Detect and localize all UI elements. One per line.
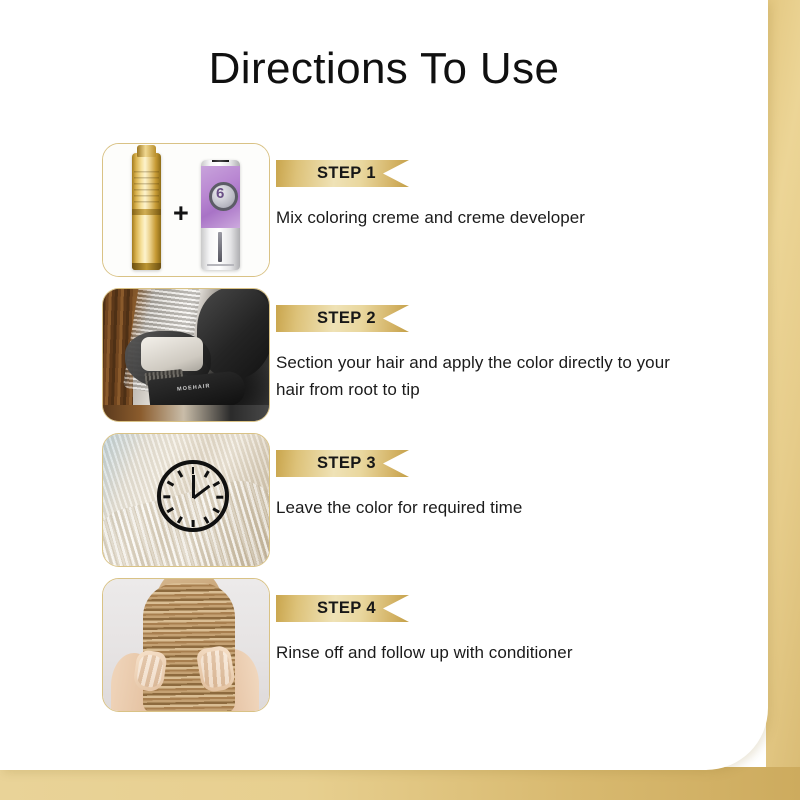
step-2-banner: STEP 2 bbox=[276, 305, 409, 332]
step-item-1: + 6 STEP 1 Mix coloring creme and creme … bbox=[102, 143, 722, 277]
clock-tick bbox=[177, 516, 183, 523]
step-3-banner: STEP 3 bbox=[276, 450, 409, 477]
step-3-thumbnail bbox=[102, 433, 270, 567]
step-3-description: Leave the color for required time bbox=[276, 494, 676, 521]
step-3-label: STEP 3 bbox=[317, 454, 376, 473]
clock-tick bbox=[192, 467, 195, 474]
step-4-description: Rinse off and follow up with conditioner bbox=[276, 639, 676, 666]
processing-time-image bbox=[103, 434, 269, 566]
infographic-page: Directions To Use + 6 bbox=[0, 0, 800, 800]
step-1-label: STEP 1 bbox=[317, 164, 376, 183]
gold-border-bottom bbox=[0, 767, 800, 800]
tube-band bbox=[132, 209, 161, 215]
clock-tick bbox=[212, 507, 219, 513]
step-item-4: STEP 4 Rinse off and follow up with cond… bbox=[102, 578, 722, 712]
developer-bottle-icon: 6 bbox=[201, 160, 240, 270]
rinse-and-condition-image bbox=[103, 579, 269, 711]
coloring-creme-and-developer-image: + 6 bbox=[103, 144, 269, 276]
gold-border-right bbox=[766, 0, 800, 800]
bottle-stripe bbox=[218, 232, 222, 262]
fingers bbox=[199, 649, 233, 689]
step-4-banner: STEP 4 bbox=[276, 595, 409, 622]
color-cream bbox=[141, 337, 203, 371]
step-1-description: Mix coloring creme and creme developer bbox=[276, 204, 676, 231]
step-2-body: STEP 2 Section your hair and apply the c… bbox=[276, 288, 722, 403]
step-1-banner: STEP 1 bbox=[276, 160, 409, 187]
steps-list: + 6 STEP 1 Mix coloring creme and creme … bbox=[102, 143, 722, 723]
clock-tick bbox=[163, 496, 170, 499]
step-1-body: STEP 1 Mix coloring creme and creme deve… bbox=[276, 143, 722, 231]
clock-tick bbox=[166, 481, 173, 487]
clock-tick bbox=[192, 520, 195, 527]
plus-icon: + bbox=[173, 200, 189, 227]
clock-tick bbox=[166, 507, 173, 513]
clock-icon bbox=[157, 460, 229, 532]
clock-tick bbox=[216, 496, 223, 499]
clock-hour-hand bbox=[192, 485, 210, 499]
clock-tick bbox=[212, 481, 219, 487]
step-2-label: STEP 2 bbox=[317, 309, 376, 328]
bottle-base bbox=[207, 264, 234, 266]
step-4-label: STEP 4 bbox=[317, 599, 376, 618]
tube-label bbox=[134, 171, 159, 205]
image-bottom-edge bbox=[103, 405, 270, 421]
clock-tick bbox=[177, 470, 183, 477]
bottle-volume-number: 6 bbox=[216, 185, 224, 202]
tube-seam bbox=[132, 263, 161, 270]
step-4-thumbnail bbox=[102, 578, 270, 712]
clock-tick bbox=[203, 516, 209, 523]
step-2-description: Section your hair and apply the color di… bbox=[276, 349, 676, 403]
step-item-3: STEP 3 Leave the color for required time bbox=[102, 433, 722, 567]
clock-tick bbox=[203, 470, 209, 477]
step-item-2: MOEHAIR STEP 2 Section your hair and app… bbox=[102, 288, 722, 422]
fingers bbox=[136, 653, 164, 688]
step-3-body: STEP 3 Leave the color for required time bbox=[276, 433, 722, 521]
coloring-creme-tube-icon bbox=[132, 153, 161, 270]
step-2-thumbnail: MOEHAIR bbox=[102, 288, 270, 422]
applying-color-image: MOEHAIR bbox=[103, 289, 269, 421]
step-1-thumbnail: + 6 bbox=[102, 143, 270, 277]
page-title: Directions To Use bbox=[0, 44, 768, 94]
step-4-body: STEP 4 Rinse off and follow up with cond… bbox=[276, 578, 722, 666]
